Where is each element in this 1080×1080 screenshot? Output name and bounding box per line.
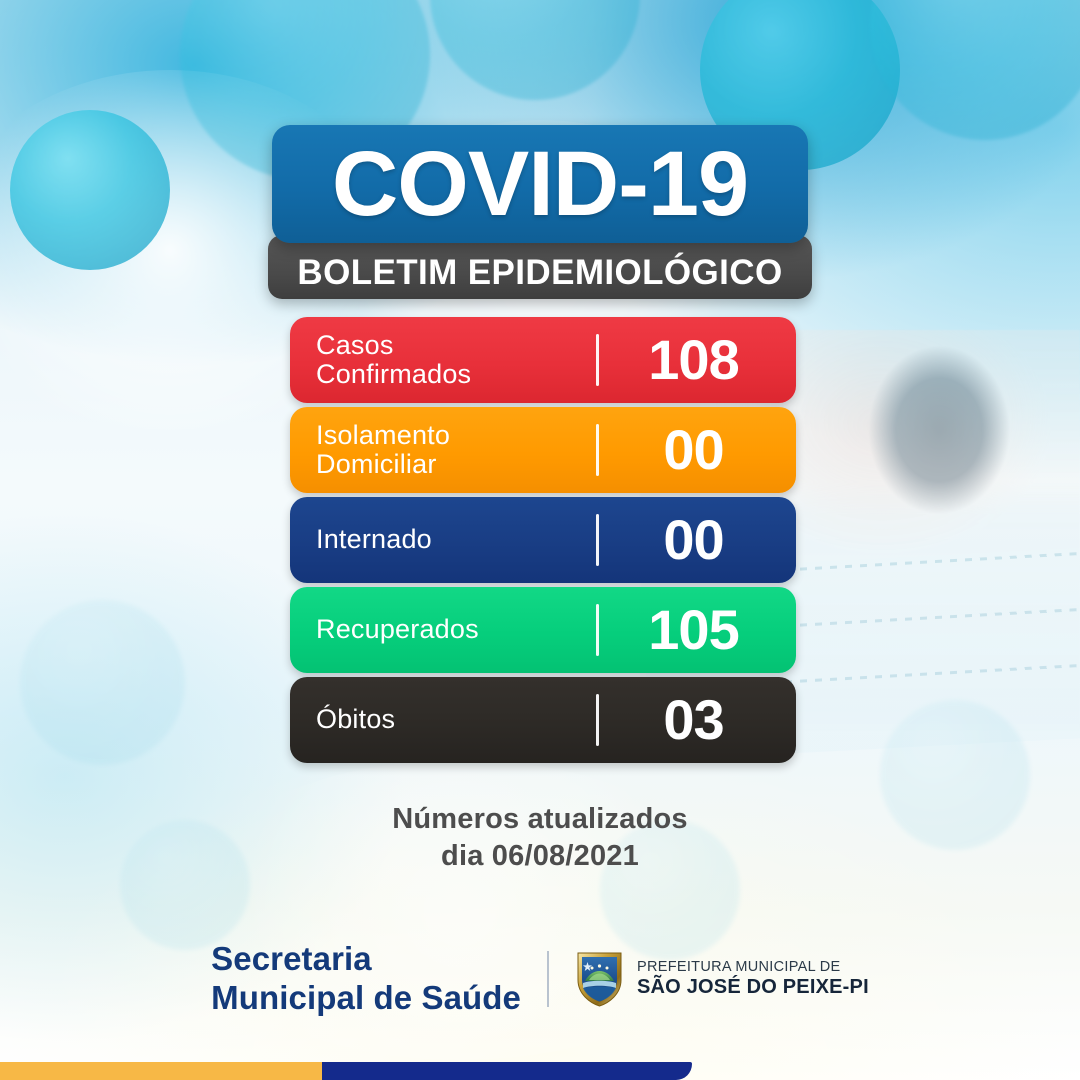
stat-divider (596, 604, 599, 656)
stat-row-casos-confirmados: Casos Confirmados 108 (290, 317, 796, 403)
stat-label-casos-confirmados: Casos Confirmados (290, 331, 596, 389)
city-hall-line2: SÃO JOSÉ DO PEIXE-PI (637, 976, 869, 999)
stat-row-obitos: Óbitos 03 (290, 677, 796, 763)
stat-label-line1: Óbitos (316, 705, 596, 734)
municipal-coat-of-arms-icon (575, 950, 624, 1008)
footer: Secretaria Municipal de Saúde (0, 948, 1080, 1010)
stat-label-isolamento-domiciliar: Isolamento Domiciliar (290, 421, 596, 479)
page-title: COVID-19 (332, 138, 748, 230)
bottom-strip-navy (322, 1062, 692, 1080)
statistics-list: Casos Confirmados 108 Isolamento Domicil… (290, 317, 796, 767)
updated-note-line2: dia 06/08/2021 (0, 838, 1080, 875)
city-hall-logo: PREFEITURA MUNICIPAL DE SÃO JOSÉ DO PEIX… (575, 950, 869, 1008)
stat-row-recuperados: Recuperados 105 (290, 587, 796, 673)
stat-value-internado: 00 (599, 512, 796, 568)
stat-value-recuperados: 105 (599, 602, 796, 658)
stat-divider (596, 514, 599, 566)
stat-label-obitos: Óbitos (290, 705, 596, 734)
stat-value-casos-confirmados: 108 (599, 332, 796, 388)
stat-row-internado: Internado 00 (290, 497, 796, 583)
updated-note-line1: Números atualizados (0, 801, 1080, 838)
stat-value-obitos: 03 (599, 692, 796, 748)
city-hall-name: PREFEITURA MUNICIPAL DE SÃO JOSÉ DO PEIX… (637, 959, 869, 999)
page-subtitle: BOLETIM EPIDEMIOLÓGICO (297, 255, 782, 290)
updated-note: Números atualizados dia 06/08/2021 (0, 801, 1080, 875)
stat-value-isolamento-domiciliar: 00 (599, 422, 796, 478)
stat-label-line2: Confirmados (316, 360, 596, 389)
health-department-line1: Secretaria (211, 940, 521, 979)
stat-label-line1: Recuperados (316, 615, 596, 644)
bulletin-subtitle-badge: BOLETIM EPIDEMIOLÓGICO (268, 235, 812, 299)
covid-title-badge: COVID-19 (272, 125, 808, 243)
stat-label-line1: Isolamento (316, 421, 596, 450)
health-department-line2: Municipal de Saúde (211, 979, 521, 1018)
stat-label-line1: Casos (316, 331, 596, 360)
stat-divider (596, 334, 599, 386)
stat-row-isolamento-domiciliar: Isolamento Domiciliar 00 (290, 407, 796, 493)
stat-divider (596, 694, 599, 746)
stat-label-line2: Domiciliar (316, 450, 596, 479)
stat-divider (596, 424, 599, 476)
stat-label-internado: Internado (290, 525, 596, 554)
stat-label-line1: Internado (316, 525, 596, 554)
footer-divider (547, 951, 549, 1007)
city-hall-line1: PREFEITURA MUNICIPAL DE (637, 959, 869, 976)
stat-label-recuperados: Recuperados (290, 615, 596, 644)
bottom-strip-yellow (0, 1062, 325, 1080)
health-department-name: Secretaria Municipal de Saúde (211, 940, 521, 1017)
